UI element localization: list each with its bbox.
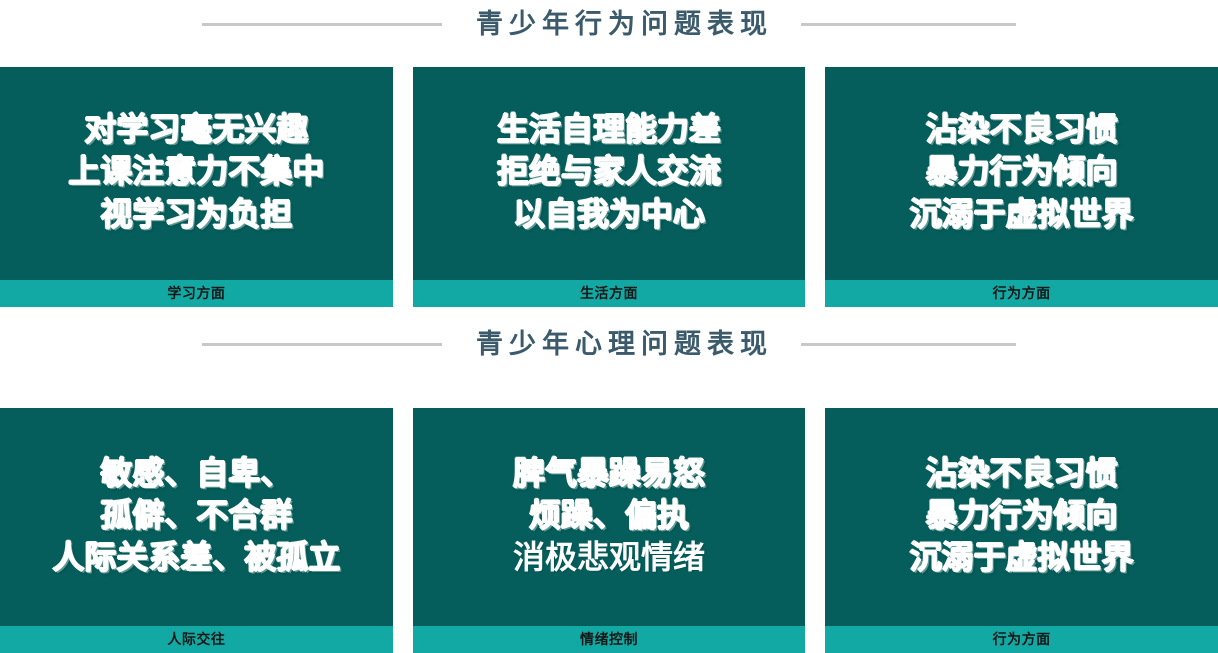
card-emotion-line-3: 消极悲观情绪 bbox=[513, 536, 705, 578]
card-conduct-2-footer: 行为方面 bbox=[825, 626, 1218, 653]
card-life-line-1: 生活自理能力差 bbox=[497, 108, 721, 150]
card-conduct-2-footer-label: 行为方面 bbox=[993, 633, 1051, 647]
card-row-behavior: 对学习毫无兴趣 上课注意力不集中 视学习为负担 学习方面 生活自理能力差 拒绝与… bbox=[0, 67, 1218, 307]
card-interpersonal[interactable]: 敏感、自卑、 孤僻、不合群 人际关系差、被孤立 人际交往 bbox=[0, 408, 393, 653]
card-row-psychology: 敏感、自卑、 孤僻、不合群 人际关系差、被孤立 人际交往 脾气暴躁易怒 烦躁、偏… bbox=[0, 408, 1218, 653]
card-conduct-2-line-2: 暴力行为倾向 bbox=[926, 494, 1118, 536]
card-emotion-line-2: 烦躁、偏执 bbox=[529, 494, 689, 536]
card-conduct-2-line-1: 沾染不良习惯 bbox=[926, 452, 1118, 494]
card-conduct-line-3: 沉溺于虚拟世界 bbox=[910, 193, 1134, 235]
card-conduct-2-line-3: 沉溺于虚拟世界 bbox=[910, 536, 1134, 578]
section-title-behavior: 青少年行为问题表现 bbox=[470, 11, 773, 38]
card-emotion-body: 脾气暴躁易怒 烦躁、偏执 消极悲观情绪 bbox=[413, 408, 806, 626]
card-interpersonal-line-3: 人际关系差、被孤立 bbox=[52, 536, 340, 578]
card-emotion[interactable]: 脾气暴躁易怒 烦躁、偏执 消极悲观情绪 情绪控制 bbox=[413, 408, 806, 653]
card-interpersonal-body: 敏感、自卑、 孤僻、不合群 人际关系差、被孤立 bbox=[0, 408, 393, 626]
section-heading-psychology: 青少年心理问题表现 bbox=[0, 322, 1218, 366]
heading-rule-left-icon bbox=[202, 343, 442, 346]
card-life-line-2: 拒绝与家人交流 bbox=[497, 150, 721, 192]
card-study-body: 对学习毫无兴趣 上课注意力不集中 视学习为负担 bbox=[0, 67, 393, 280]
heading-rule-right-icon bbox=[801, 343, 1016, 346]
card-study[interactable]: 对学习毫无兴趣 上课注意力不集中 视学习为负担 学习方面 bbox=[0, 67, 393, 307]
card-conduct[interactable]: 沾染不良习惯 暴力行为倾向 沉溺于虚拟世界 行为方面 bbox=[825, 67, 1218, 307]
card-conduct-2-body: 沾染不良习惯 暴力行为倾向 沉溺于虚拟世界 bbox=[825, 408, 1218, 626]
card-life[interactable]: 生活自理能力差 拒绝与家人交流 以自我为中心 生活方面 bbox=[413, 67, 806, 307]
infographic-page: 青少年行为问题表现 对学习毫无兴趣 上课注意力不集中 视学习为负担 学习方面 生… bbox=[0, 0, 1218, 653]
card-emotion-line-1: 脾气暴躁易怒 bbox=[513, 452, 705, 494]
card-conduct-line-2: 暴力行为倾向 bbox=[926, 150, 1118, 192]
card-life-footer: 生活方面 bbox=[413, 280, 806, 307]
card-conduct-line-1: 沾染不良习惯 bbox=[926, 108, 1118, 150]
card-interpersonal-line-1: 敏感、自卑、 bbox=[100, 452, 292, 494]
card-study-line-1: 对学习毫无兴趣 bbox=[84, 108, 308, 150]
card-life-body: 生活自理能力差 拒绝与家人交流 以自我为中心 bbox=[413, 67, 806, 280]
card-emotion-footer: 情绪控制 bbox=[413, 626, 806, 653]
card-interpersonal-footer-label: 人际交往 bbox=[167, 633, 225, 647]
card-conduct-body: 沾染不良习惯 暴力行为倾向 沉溺于虚拟世界 bbox=[825, 67, 1218, 280]
card-conduct-2[interactable]: 沾染不良习惯 暴力行为倾向 沉溺于虚拟世界 行为方面 bbox=[825, 408, 1218, 653]
card-interpersonal-line-2: 孤僻、不合群 bbox=[100, 494, 292, 536]
card-life-line-3: 以自我为中心 bbox=[513, 193, 705, 235]
section-heading-behavior: 青少年行为问题表现 bbox=[0, 2, 1218, 46]
heading-rule-left-icon bbox=[202, 23, 442, 26]
card-life-footer-label: 生活方面 bbox=[580, 287, 638, 301]
heading-rule-right-icon bbox=[801, 23, 1016, 26]
card-conduct-footer-label: 行为方面 bbox=[993, 287, 1051, 301]
card-conduct-footer: 行为方面 bbox=[825, 280, 1218, 307]
section-title-psychology: 青少年心理问题表现 bbox=[470, 331, 773, 358]
card-study-line-3: 视学习为负担 bbox=[100, 193, 292, 235]
card-emotion-footer-label: 情绪控制 bbox=[580, 633, 638, 647]
card-interpersonal-footer: 人际交往 bbox=[0, 626, 393, 653]
card-study-footer: 学习方面 bbox=[0, 280, 393, 307]
card-study-footer-label: 学习方面 bbox=[167, 287, 225, 301]
card-study-line-2: 上课注意力不集中 bbox=[68, 150, 324, 192]
